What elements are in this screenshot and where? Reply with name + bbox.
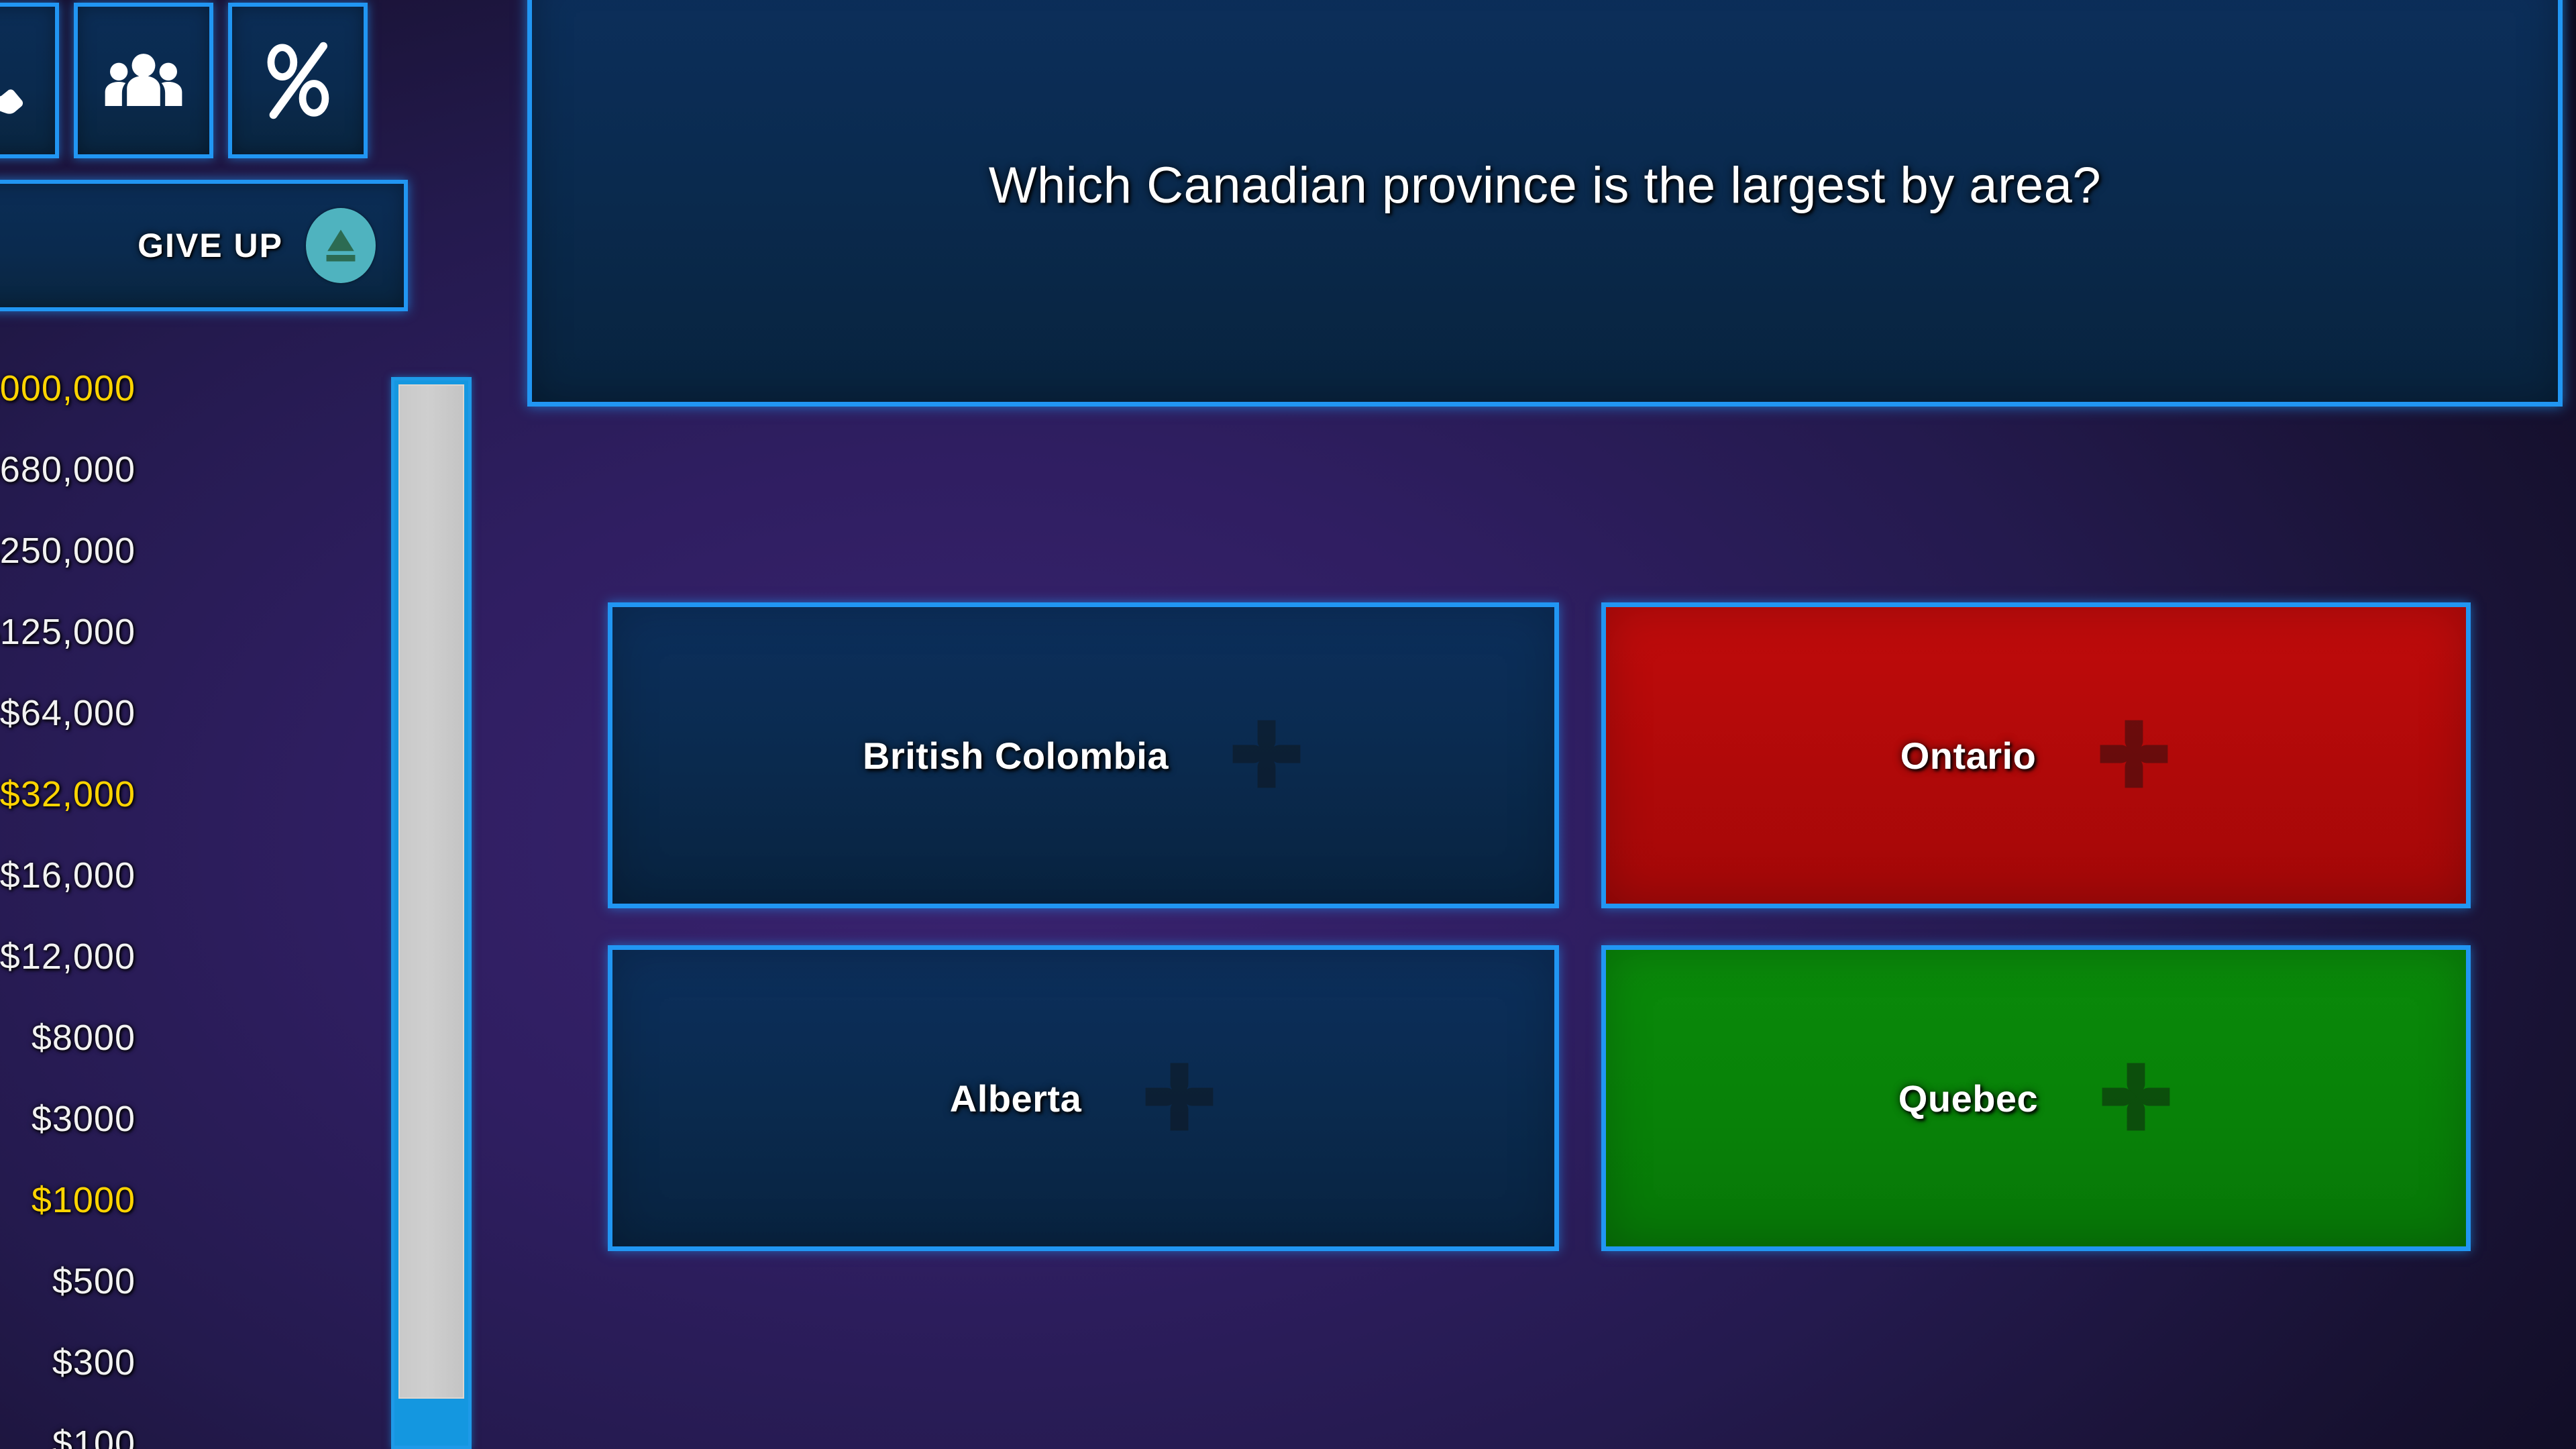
answer-label-d: Quebec	[1898, 1077, 2038, 1120]
ladder-amount: $32,000	[0, 773, 136, 815]
ladder-row[interactable]: $250,000	[0, 510, 140, 591]
ladder-row[interactable]: $3000	[0, 1078, 140, 1159]
ladder-scrollbar[interactable]	[391, 377, 472, 1449]
dpad-icon	[2096, 716, 2171, 795]
ladder-amount: $3000	[32, 1098, 136, 1140]
ladder-row[interactable]: $1,000,000	[0, 347, 140, 429]
ladder-amount: $8000	[32, 1017, 136, 1059]
ladder-amount: $1,000,000	[0, 368, 136, 409]
answer-button-a[interactable]: British Colombia	[608, 602, 1559, 908]
dpad-icon	[1229, 716, 1304, 795]
ladder-row[interactable]: $16,000	[0, 835, 140, 916]
money-ladder: $1,000,000 $680,000 $250,000 $125,000 $6…	[0, 347, 140, 1449]
answers-grid: British Colombia Ontario	[608, 602, 2469, 1251]
lifeline-ask-the-audience[interactable]	[74, 3, 213, 158]
ladder-row[interactable]: $64,000	[0, 672, 140, 753]
answer-label-c: Alberta	[950, 1077, 1081, 1120]
ladder-row[interactable]: $8000	[0, 997, 140, 1078]
question-text: Which Canadian province is the largest b…	[935, 156, 2155, 215]
eject-triangle-icon	[306, 208, 376, 283]
ladder-scrollbar-thumb[interactable]	[398, 384, 464, 1399]
question-box: Which Canadian province is the largest b…	[527, 0, 2563, 407]
lifeline-row	[0, 3, 368, 158]
dpad-icon	[2098, 1059, 2173, 1138]
ladder-amount: $16,000	[0, 855, 136, 896]
ladder-row[interactable]: $300	[0, 1322, 140, 1403]
ladder-amount: $64,000	[0, 692, 136, 734]
phone-icon	[0, 44, 25, 117]
ladder-row[interactable]: $500	[0, 1240, 140, 1322]
answer-button-d[interactable]: Quebec	[1601, 945, 2471, 1251]
ladder-row[interactable]: $1000	[0, 1159, 140, 1240]
ladder-row[interactable]: $12,000	[0, 916, 140, 997]
ladder-amount: $100	[52, 1423, 136, 1449]
ladder-amount: $1000	[32, 1179, 136, 1221]
answer-button-c[interactable]: Alberta	[608, 945, 1559, 1251]
ladder-amount: $12,000	[0, 936, 136, 977]
answer-label-a: British Colombia	[863, 734, 1169, 777]
dpad-icon	[1142, 1059, 1217, 1138]
ladder-row[interactable]: $125,000	[0, 591, 140, 672]
ladder-row[interactable]: $32,000	[0, 753, 140, 835]
ladder-amount: $680,000	[0, 449, 136, 490]
answer-label-b: Ontario	[1900, 734, 2037, 777]
millionaire-game-screen: GIVE UP $1,000,000 $680,000 $250,000 $12…	[0, 0, 2576, 1449]
audience-icon	[102, 46, 185, 115]
ladder-amount: $125,000	[0, 611, 136, 653]
give-up-label: GIVE UP	[138, 226, 283, 265]
ladder-row[interactable]: $100	[0, 1403, 140, 1449]
ladder-amount: $300	[52, 1342, 136, 1383]
lifeline-fifty-fifty[interactable]	[228, 3, 368, 158]
lifeline-phone-a-friend[interactable]	[0, 3, 59, 158]
percent-icon	[261, 39, 335, 122]
give-up-button[interactable]: GIVE UP	[0, 180, 408, 311]
answer-button-b[interactable]: Ontario	[1601, 602, 2471, 908]
ladder-amount: $250,000	[0, 530, 136, 572]
ladder-row[interactable]: $680,000	[0, 429, 140, 510]
ladder-amount: $500	[52, 1260, 136, 1302]
